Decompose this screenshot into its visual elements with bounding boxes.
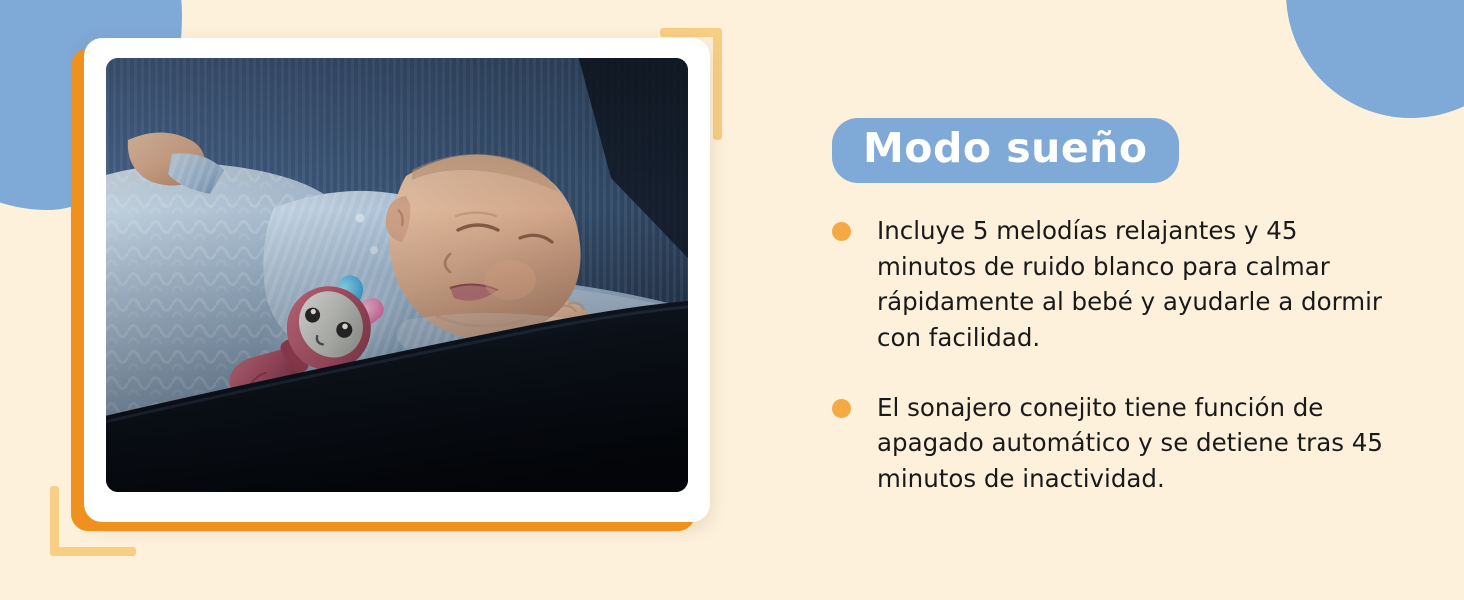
product-photo	[106, 58, 688, 492]
list-item-text: El sonajero conejito tiene función de ap…	[877, 390, 1387, 497]
photo-illustration	[106, 58, 688, 492]
list-item: Incluye 5 melodías relajantes y 45 minut…	[832, 213, 1412, 355]
page-title: Modo sueño	[832, 118, 1179, 183]
product-feature-banner: Modo sueño Incluye 5 melodías relajantes…	[0, 0, 1464, 600]
list-item: El sonajero conejito tiene función de ap…	[832, 390, 1412, 497]
feature-list: Incluye 5 melodías relajantes y 45 minut…	[832, 213, 1412, 496]
bullet-dot-icon	[832, 222, 851, 241]
decorative-blob-top-right	[1286, 0, 1464, 118]
bracket-horizontal-bar	[660, 28, 722, 37]
bullet-dot-icon	[832, 399, 851, 418]
bracket-vertical-bar	[713, 28, 722, 140]
bracket-horizontal-bar	[50, 547, 136, 556]
list-item-text: Incluye 5 melodías relajantes y 45 minut…	[877, 213, 1387, 355]
photo-card	[84, 38, 710, 522]
content-column: Modo sueño Incluye 5 melodías relajantes…	[832, 118, 1412, 496]
bracket-vertical-bar	[50, 486, 59, 556]
